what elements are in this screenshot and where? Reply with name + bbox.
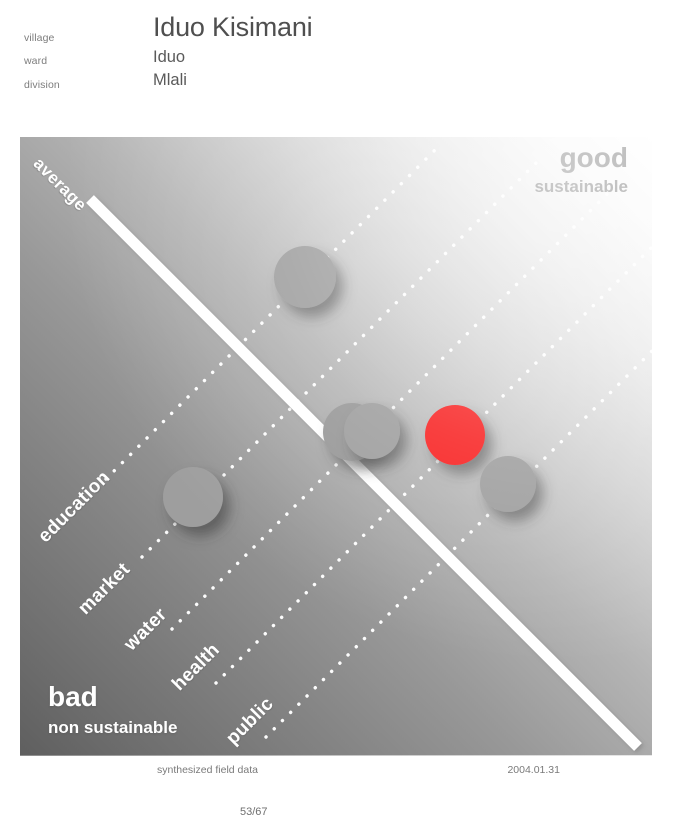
date-note: 2004.01.31 — [507, 764, 560, 776]
scale-sublabel-non-sustainable: non sustainable — [48, 719, 177, 736]
scale-sublabel-sustainable: sustainable — [534, 178, 628, 195]
criteria-axis-health — [216, 247, 652, 683]
label-village: village — [24, 32, 54, 44]
criteria-axis-water — [172, 181, 620, 629]
bubble-market — [163, 467, 223, 527]
average-reference-line — [90, 199, 638, 747]
page-footer: synthesized field data 2004.01.31 53/67 — [0, 755, 676, 831]
bubble-health — [425, 405, 485, 465]
footer-divider — [20, 755, 652, 756]
scale-label-good: good — [560, 144, 628, 172]
bubble-education — [274, 246, 336, 308]
bubble-markers — [163, 246, 536, 527]
label-division: division — [24, 79, 60, 91]
plot-canvas — [20, 137, 652, 755]
sustainability-chart: average education market water health pu… — [20, 137, 652, 755]
page-number: 53/67 — [240, 806, 268, 818]
label-ward: ward — [24, 55, 47, 67]
bubble-highlight-village — [344, 403, 400, 459]
page-title: Iduo Kisimani — [153, 14, 312, 41]
scale-label-bad: bad — [48, 683, 98, 711]
ward-value: Iduo — [153, 49, 185, 66]
division-value: Mlali — [153, 72, 187, 89]
page-header: village ward division Iduo Kisimani Iduo… — [0, 0, 676, 120]
source-note: synthesized field data — [157, 764, 258, 776]
bubble-public — [480, 456, 536, 512]
